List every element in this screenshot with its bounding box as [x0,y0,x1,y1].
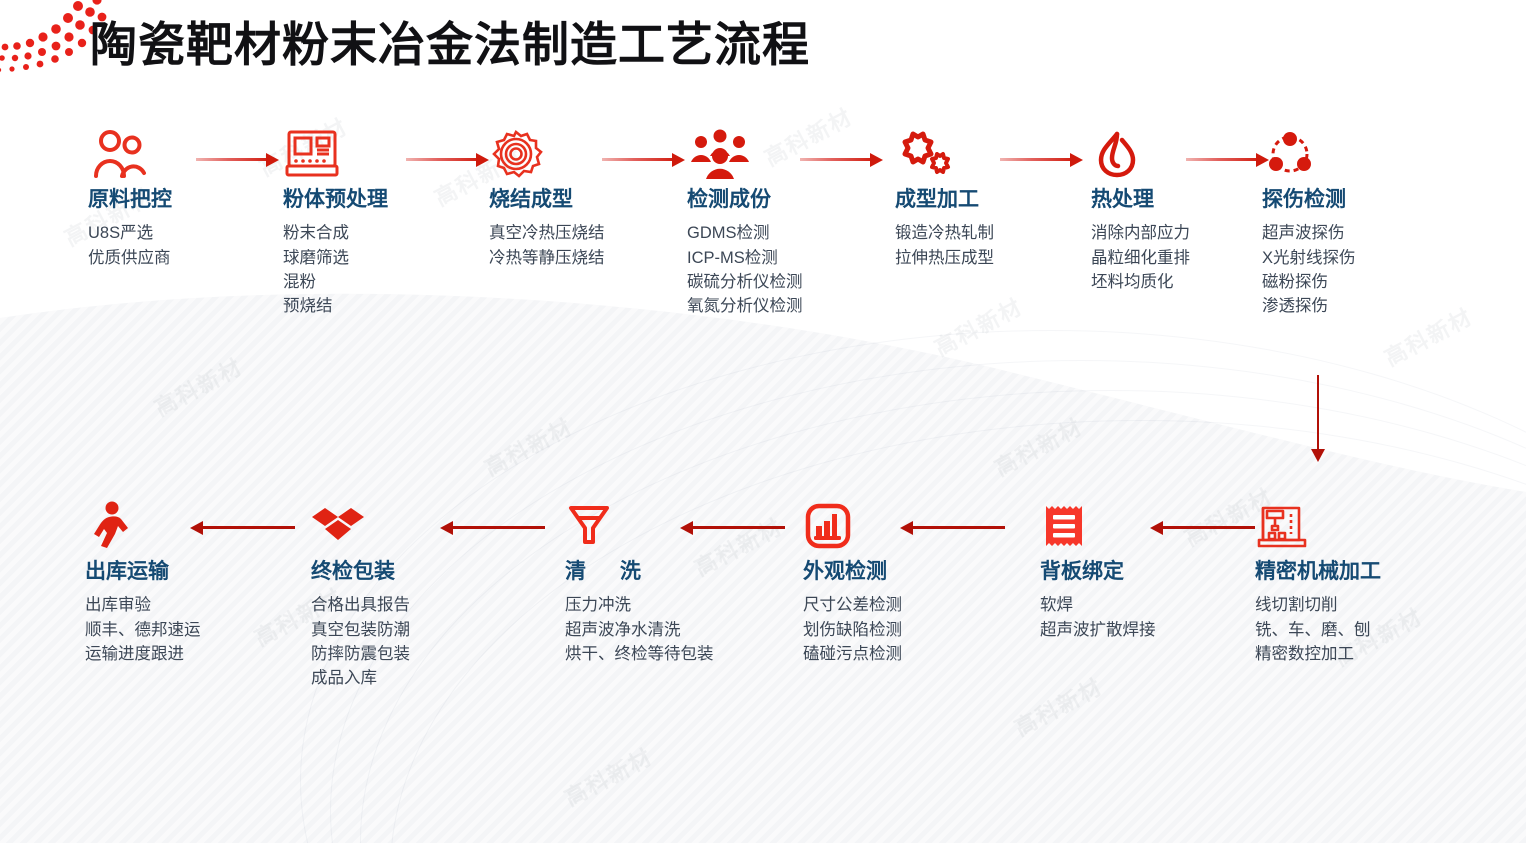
step-line: U8S严选 [88,221,273,245]
step-line: 顺丰、德邦速运 [85,618,265,642]
step-line: 超声波扩散焊接 [1040,618,1220,642]
funnel-icon [565,500,740,552]
step-lines: GDMS检测 ICP-MS检测 碳硫分析仪检测 氧氮分析仪检测 [687,221,887,319]
step-line: 球磨筛选 [283,246,483,270]
step-line: 混粉 [283,270,483,294]
flow-arrow-right [196,152,281,168]
step-line: 尺寸公差检测 [803,593,988,617]
step-line: 软焊 [1040,593,1220,617]
step-card-sintering-forming[interactable]: 烧结成型 真空冷热压烧结 冷热等静压烧结 [489,128,689,270]
step-title: 终检包装 [311,560,491,583]
step-lines: 合格出具报告 真空包装防潮 防摔防震包装 成品入库 [311,593,491,691]
page-title: 陶瓷靶材粉末冶金法制造工艺流程 [90,6,810,75]
step-title: 粉体预处理 [283,188,483,211]
step-card-outbound-shipping[interactable]: 出库运输 出库审验 顺丰、德邦速运 运输进度跟进 [85,500,265,666]
step-line: 坯料均质化 [1091,270,1266,294]
step-line: 真空冷热压烧结 [489,221,689,245]
step-line: 超声波净水清洗 [565,618,740,642]
factory-badge-icon [803,500,988,552]
step-line: 冷热等静压烧结 [489,246,689,270]
step-line: X光射线探伤 [1262,246,1462,270]
step-lines: 锻造冷热轧制 拉伸热压成型 [895,221,1085,270]
step-line: 线切割切削 [1255,593,1465,617]
step-card-forming-processing[interactable]: 成型加工 锻造冷热轧制 拉伸热压成型 [895,128,1085,270]
flow-diagram-page: 高科新材 高科新材 高科新材 高科新材 高科新材 高科新材 高科新材 高科新材 … [0,0,1526,843]
step-lines: 粉末合成 球磨筛选 混粉 预烧结 [283,221,483,319]
step-line: 氧氮分析仪检测 [687,294,887,318]
step-title: 出库运输 [85,560,265,583]
step-card-cleaning[interactable]: 清 洗 压力冲洗 超声波净水清洗 烘干、终检等待包装 [565,500,740,666]
step-line: 消除内部应力 [1091,221,1266,245]
step-line: 拉伸热压成型 [895,246,1085,270]
step-line: 真空包装防潮 [311,618,491,642]
step-lines: 尺寸公差检测 划伤缺陷检测 磕碰污点检测 [803,593,988,666]
step-line: 划伤缺陷检测 [803,618,988,642]
step-line: 磁粉探伤 [1262,270,1462,294]
step-line: 锻造冷热轧制 [895,221,1085,245]
step-lines: 软焊 超声波扩散焊接 [1040,593,1220,642]
step-title: 清 洗 [565,560,740,583]
step-lines: 线切割切削 铣、车、磨、刨 精密数控加工 [1255,593,1465,666]
step-card-flaw-detection[interactable]: 探伤检测 超声波探伤 X光射线探伤 磁粉探伤 渗透探伤 [1262,128,1462,319]
backing-plate-icon [1040,500,1220,552]
step-title: 成型加工 [895,188,1085,211]
flow-arrow-right [406,152,491,168]
open-box-icon [311,500,491,552]
step-card-raw-material-control[interactable]: 原料把控 U8S严选 优质供应商 [88,128,273,270]
step-title: 烧结成型 [489,188,689,211]
step-line: 晶粒细化重排 [1091,246,1266,270]
step-card-precision-machining[interactable]: 精密机械加工 线切割切削 铣、车、磨、刨 精密数控加工 [1255,500,1465,666]
step-title: 精密机械加工 [1255,560,1465,583]
step-lines: 超声波探伤 X光射线探伤 磁粉探伤 渗透探伤 [1262,221,1462,319]
step-lines: 消除内部应力 晶粒细化重排 坯料均质化 [1091,221,1266,294]
step-line: 铣、车、磨、刨 [1255,618,1465,642]
step-card-backing-plate-bonding[interactable]: 背板绑定 软焊 超声波扩散焊接 [1040,500,1220,642]
step-lines: 压力冲洗 超声波净水清洗 烘干、终检等待包装 [565,593,740,666]
flow-arrow-right [800,152,885,168]
flow-arrow-right [1186,152,1271,168]
step-line: 粉末合成 [283,221,483,245]
flow-arrow-down [1311,375,1325,463]
step-title: 检测成份 [687,188,887,211]
step-line: GDMS检测 [687,221,887,245]
step-card-appearance-inspection[interactable]: 外观检测 尺寸公差检测 划伤缺陷检测 磕碰污点检测 [803,500,988,666]
flow-arrow-right [1000,152,1085,168]
step-line: 合格出具报告 [311,593,491,617]
step-line: 精密数控加工 [1255,642,1465,666]
step-line: 磕碰污点检测 [803,642,988,666]
step-title: 探伤检测 [1262,188,1462,211]
flow-arrow-right [602,152,687,168]
cnc-machine-icon [1255,500,1465,552]
step-line: 超声波探伤 [1262,221,1462,245]
step-line: 压力冲洗 [565,593,740,617]
step-line: 防摔防震包装 [311,642,491,666]
step-lines: 出库审验 顺丰、德邦速运 运输进度跟进 [85,593,265,666]
step-lines: U8S严选 优质供应商 [88,221,273,270]
step-title: 热处理 [1091,188,1266,211]
step-line: 烘干、终检等待包装 [565,642,725,666]
step-line: 出库审验 [85,593,265,617]
step-line: 优质供应商 [88,246,273,270]
molecule-triangle-icon [1262,128,1462,180]
step-card-final-inspection-packaging[interactable]: 终检包装 合格出具报告 真空包装防潮 防摔防震包装 成品入库 [311,500,491,691]
step-line: ICP-MS检测 [687,246,887,270]
step-line: 成品入库 [311,666,491,690]
step-line: 预烧结 [283,294,483,318]
walking-person-icon [85,500,265,552]
step-line: 碳硫分析仪检测 [687,270,887,294]
step-title: 外观检测 [803,560,988,583]
step-lines: 真空冷热压烧结 冷热等静压烧结 [489,221,689,270]
step-title: 原料把控 [88,188,273,211]
step-title: 背板绑定 [1040,560,1220,583]
step-line: 渗透探伤 [1262,294,1462,318]
step-line: 运输进度跟进 [85,642,265,666]
